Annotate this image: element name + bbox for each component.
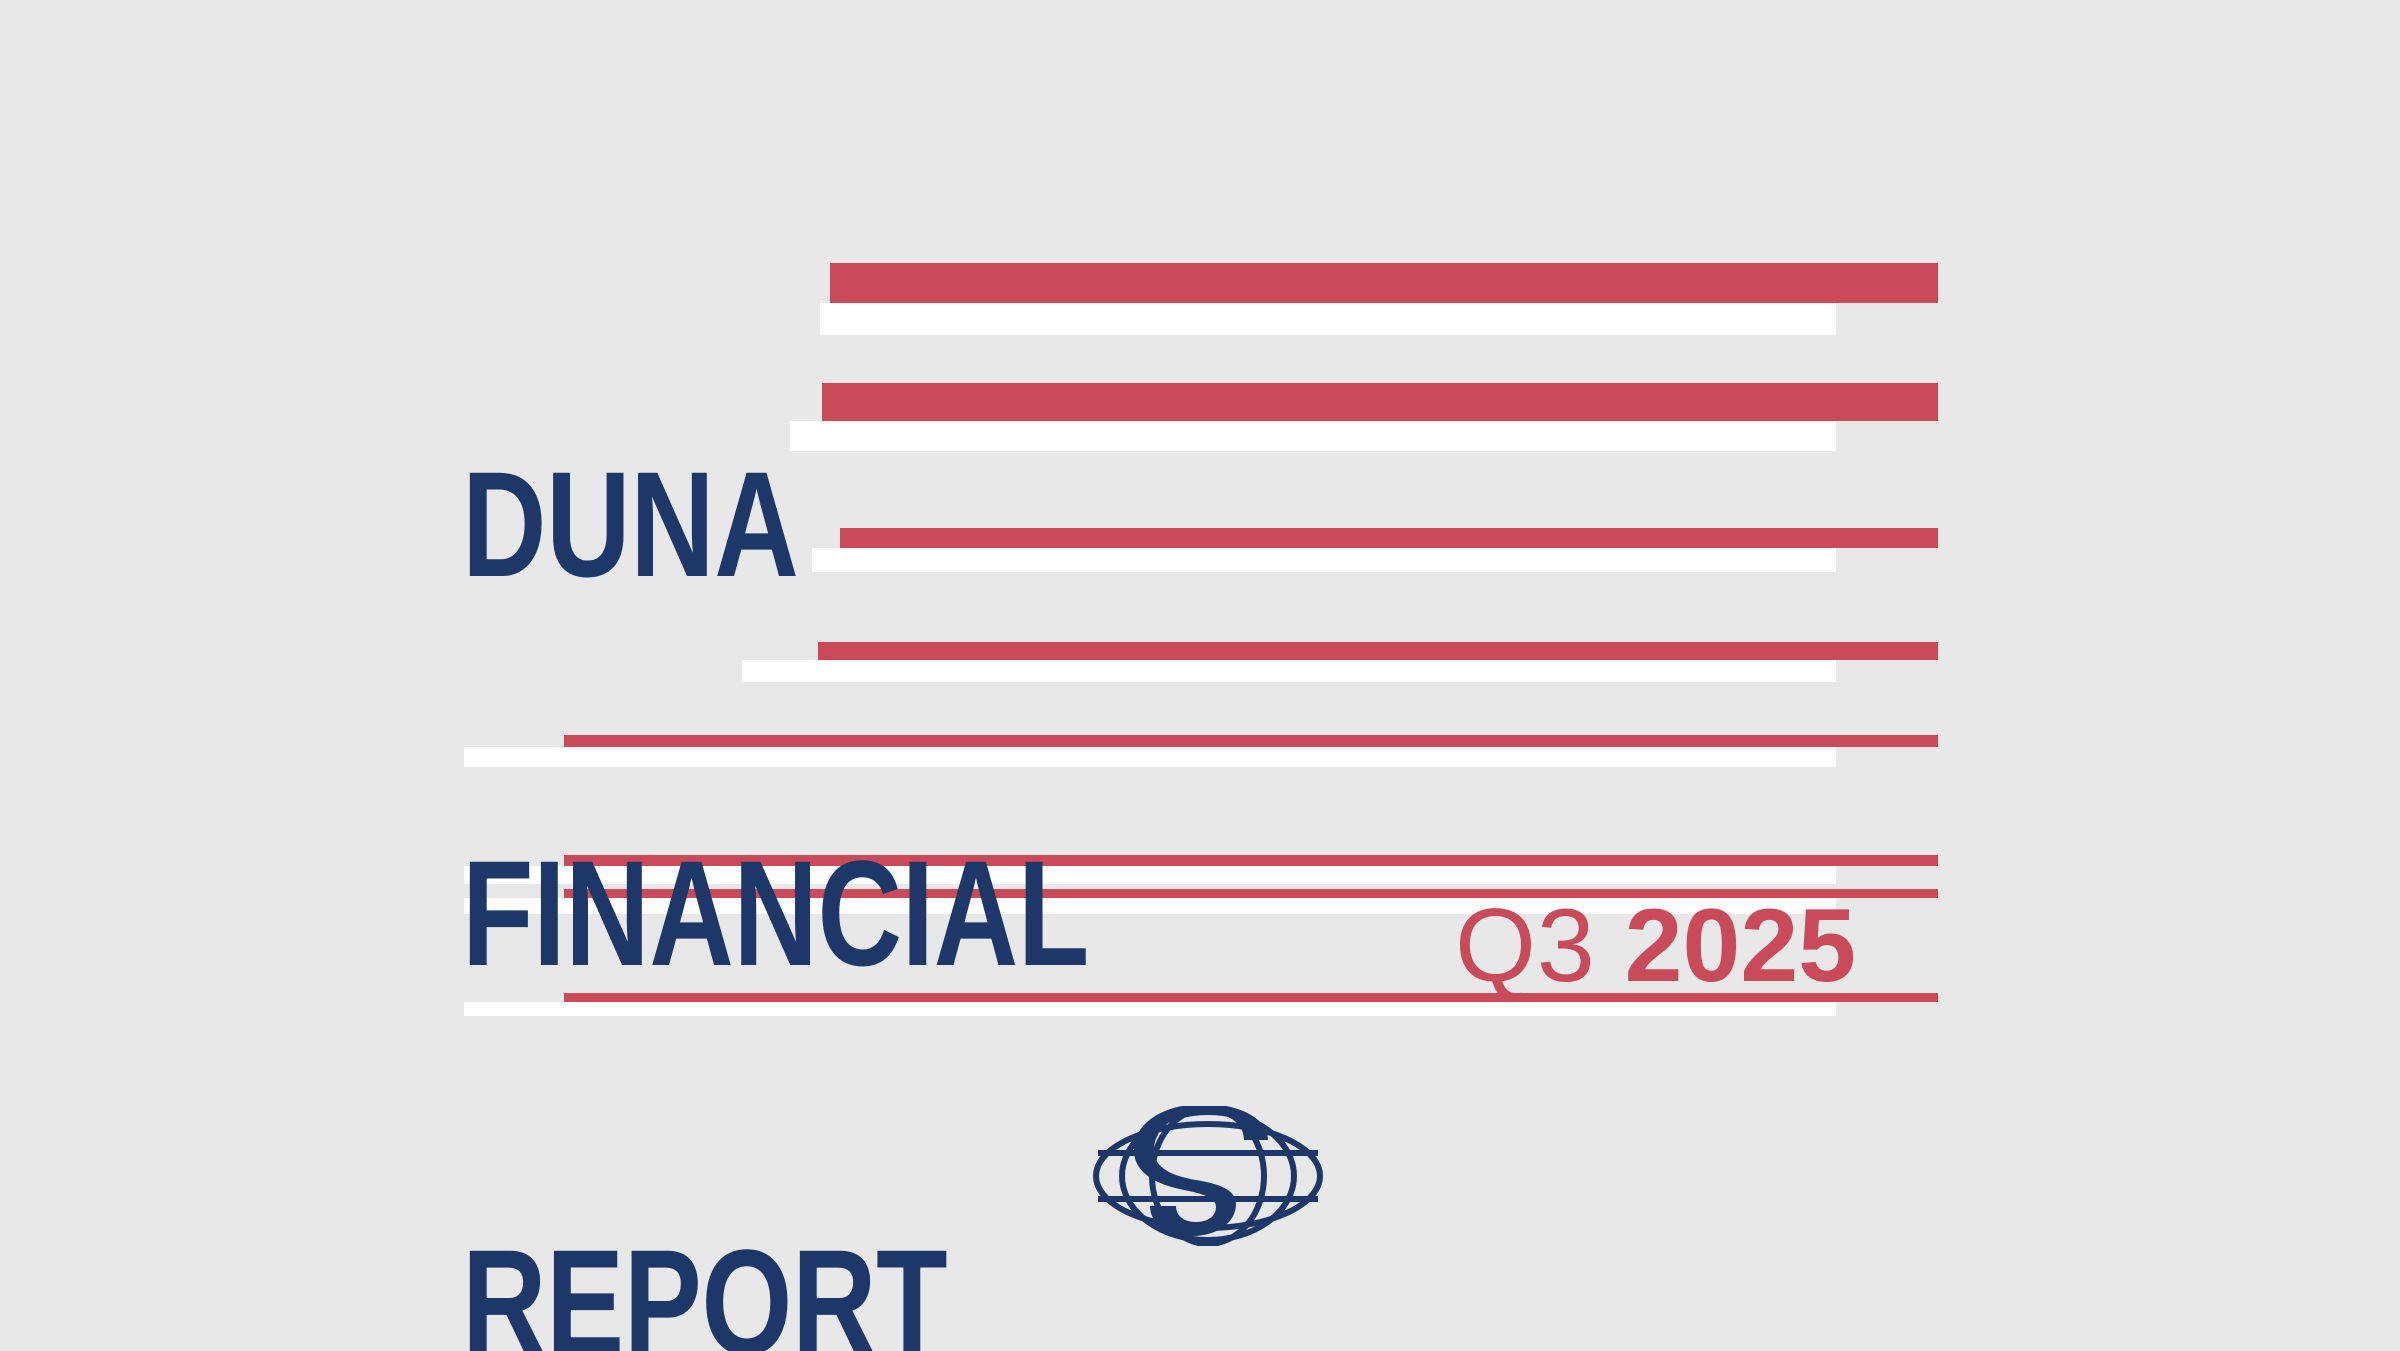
page-title: DUNA FINANCIAL REPORT xyxy=(462,200,1089,1351)
report-period: Q3 2025 xyxy=(1455,894,1856,998)
title-line-2: FINANCIAL xyxy=(462,849,1089,979)
company-logo xyxy=(1092,1106,1324,1246)
quarter-label: Q3 xyxy=(1455,888,1596,1004)
year-label: 2025 xyxy=(1625,888,1856,1004)
period-spacer xyxy=(1596,888,1625,1004)
title-line-3: REPORT xyxy=(462,1238,1089,1351)
title-line-1: DUNA xyxy=(462,460,1089,590)
report-cover-poster: DUNA FINANCIAL REPORT Q3 2025 xyxy=(0,0,2400,1351)
